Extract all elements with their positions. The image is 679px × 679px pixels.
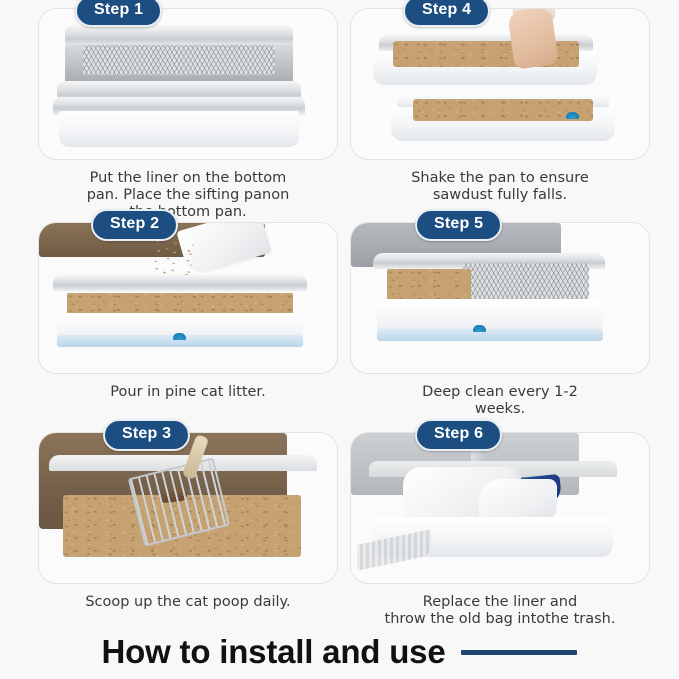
step-3-illustration [39, 433, 337, 583]
step-1-image-card: Step 1 [38, 8, 338, 160]
pan-rim [53, 275, 307, 291]
step-2-image-card: Step 2 [38, 222, 338, 374]
bottom-pan-body [59, 111, 299, 147]
step-caption-4: Shake the pan to ensure sawdust fully fa… [350, 170, 650, 204]
step-6-image-card: Step 6 [350, 432, 650, 584]
step-2-illustration [39, 223, 337, 373]
step-caption-1: Put the liner on the bottom pan. Place t… [38, 170, 338, 221]
footer-title-bar: How to install and use [0, 625, 679, 679]
step-badge-4: Step 4 [403, 0, 490, 27]
step-caption-6: Replace the liner and throw the old bag … [350, 594, 650, 628]
drain-plug-icon [566, 112, 579, 119]
title-accent-rule [461, 650, 577, 655]
sifting-mesh-icon [83, 45, 275, 75]
step-badge-1: Step 1 [75, 0, 162, 27]
steps-board: Step 1 Put the liner on the bottom pan. … [0, 0, 679, 625]
step-badge-3: Step 3 [103, 419, 190, 451]
step-1-illustration [39, 9, 337, 159]
step-caption-2: Pour in pine cat litter. [38, 384, 338, 401]
drain-plug-icon [173, 333, 186, 340]
page-title: How to install and use [102, 633, 446, 671]
step-4-image-card: Step 4 [350, 8, 650, 160]
pan-blue-rim [377, 329, 603, 341]
hand-icon [507, 9, 559, 70]
drain-plug-icon [473, 325, 486, 332]
step-badge-6: Step 6 [415, 419, 502, 451]
step-badge-5: Step 5 [415, 209, 502, 241]
step-card-2: Step 2 Pour in pine cat litter. [38, 222, 338, 401]
sifting-mesh-icon [463, 263, 589, 301]
step-badge-2: Step 2 [91, 209, 178, 241]
step-4-illustration [351, 9, 649, 159]
step-card-1: Step 1 Put the liner on the bottom pan. … [38, 8, 338, 221]
sifting-pan-rim [65, 25, 293, 47]
step-6-illustration [351, 433, 649, 583]
step-card-3: Step 3 Scoop up the cat poop daily. [38, 432, 338, 611]
step-5-image-card: Step 5 [350, 222, 650, 374]
step-5-illustration [351, 223, 649, 373]
step-card-5: Step 5 Deep clean every 1-2 weeks. [350, 222, 650, 418]
step-caption-3: Scoop up the cat poop daily. [38, 594, 338, 611]
step-card-4: Step 4 Shake the pan to ensure sawdust f… [350, 8, 650, 204]
step-caption-5: Deep clean every 1-2 weeks. [350, 384, 650, 418]
step-3-image-card: Step 3 [38, 432, 338, 584]
step-card-6: Step 6 Replace the liner and throw the o… [350, 432, 650, 628]
